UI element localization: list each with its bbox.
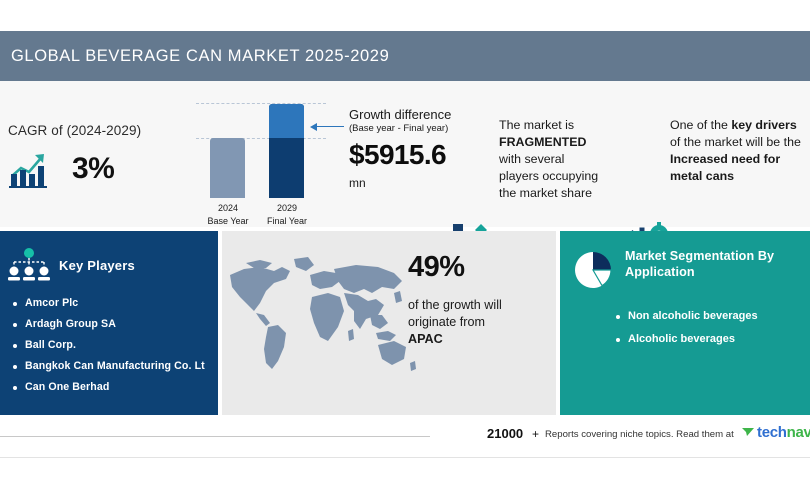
cagr-value-row: 3%: [8, 150, 198, 188]
apac-percent: 49%: [408, 253, 556, 282]
growth-difference-value: $5915.6: [349, 141, 509, 169]
reports-count-plus: +: [532, 427, 539, 441]
bar-2029: [269, 104, 304, 198]
page-title: GLOBAL BEVERAGE CAN MARKET 2025-2029: [0, 47, 389, 66]
cagr-label: CAGR of (2024-2029): [8, 123, 198, 138]
fragmented-line-3: with several: [499, 152, 564, 166]
fragmented-text: The market is FRAGMENTED with several pl…: [499, 117, 649, 202]
bar-2029-caption: 2029 Final Year: [251, 202, 323, 227]
list-item: Can One Berhad: [0, 377, 218, 398]
technavio-wordmark: technavi: [757, 424, 810, 441]
market-segmentation-panel: Market Segmentation By Application Non a…: [560, 231, 810, 415]
bar-2029-growth-segment: [269, 104, 304, 138]
list-item: Ball Corp.: [0, 335, 218, 356]
bar-chart-growth-icon: [8, 150, 50, 188]
list-item: Ardagh Group SA: [0, 314, 218, 335]
segmentation-title: Market Segmentation By Application: [625, 248, 785, 280]
org-network-icon: [8, 247, 50, 283]
footer-bar: 21000 + Reports covering niche topics. R…: [0, 418, 810, 456]
growth-difference-block: Growth difference (Base year - Final yea…: [349, 107, 509, 190]
reports-count: 21000: [487, 426, 523, 441]
apac-map-panel: 49% of the growth will originate from AP…: [222, 231, 556, 415]
drivers-line-3: Increased need for: [670, 152, 780, 166]
growth-difference-unit: mn: [349, 176, 509, 190]
left-arrow-icon: [310, 123, 344, 131]
logo-word-tech: tech: [757, 424, 787, 441]
fragmented-line-5: the market share: [499, 186, 592, 200]
pie-chart-icon: [572, 249, 614, 291]
footer-tagline: Reports covering niche topics. Read them…: [545, 429, 734, 440]
fragmented-line-4: players occupying: [499, 169, 598, 183]
technavio-logo[interactable]: technavi: [742, 424, 810, 441]
segmentation-list: Non alcoholic beverages Alcoholic bevera…: [560, 305, 810, 351]
bar-2024: [210, 138, 245, 198]
drivers-line-1-pre: One of the: [670, 118, 731, 132]
list-item: Alcoholic beverages: [560, 328, 810, 351]
fragmented-line-1: The market is: [499, 118, 574, 132]
apac-region: APAC: [408, 332, 443, 346]
middle-row: Key Players Amcor Plc Ardagh Group SA Ba…: [0, 231, 810, 415]
drivers-line-2: of the market will be the: [670, 135, 801, 149]
cagr-block: CAGR of (2024-2029) 3%: [8, 123, 198, 188]
key-players-header: Key Players: [0, 231, 218, 283]
bar-2029-year: 2029: [251, 202, 323, 215]
list-item: Bangkok Can Manufacturing Co. Lt: [0, 356, 218, 377]
fragmented-keyword: FRAGMENTED: [499, 135, 586, 149]
footer-divider: [0, 436, 430, 437]
key-drivers-text: One of the key drivers of the market wil…: [670, 117, 810, 185]
list-item: Non alcoholic beverages: [560, 305, 810, 328]
key-players-panel: Key Players Amcor Plc Ardagh Group SA Ba…: [0, 231, 218, 415]
list-item: Amcor Plc: [0, 293, 218, 314]
key-players-title: Key Players: [59, 258, 135, 273]
drivers-line-4: metal cans: [670, 169, 734, 183]
bottom-divider: [0, 457, 810, 458]
grid-line-top: [196, 103, 326, 104]
cagr-value: 3%: [72, 152, 114, 186]
logo-word-navio: navi: [787, 424, 810, 441]
top-summary-strip: CAGR of (2024-2029) 3%: [0, 81, 810, 227]
world-map-icon: [222, 253, 416, 375]
bar-2029-sublabel: Final Year: [251, 215, 323, 228]
apac-line-1: of the growth will: [408, 298, 502, 312]
technavio-arrow-icon: [742, 426, 755, 439]
infographic-canvas: GLOBAL BEVERAGE CAN MARKET 2025-2029 CAG…: [0, 0, 810, 480]
drivers-keyword: key drivers: [731, 118, 796, 132]
apac-line-2: originate from: [408, 315, 485, 329]
key-players-list: Amcor Plc Ardagh Group SA Ball Corp. Ban…: [0, 293, 218, 398]
segmentation-header: Market Segmentation By Application: [560, 231, 810, 291]
apac-description: of the growth will originate from APAC: [408, 297, 556, 348]
growth-difference-subtitle: (Base year - Final year): [349, 123, 509, 134]
header-bar: GLOBAL BEVERAGE CAN MARKET 2025-2029: [0, 31, 810, 81]
apac-block: 49% of the growth will originate from AP…: [408, 253, 556, 348]
growth-bar-chart: 2024 Base Year 2029 Final Year: [196, 99, 326, 227]
growth-difference-title: Growth difference: [349, 107, 509, 122]
